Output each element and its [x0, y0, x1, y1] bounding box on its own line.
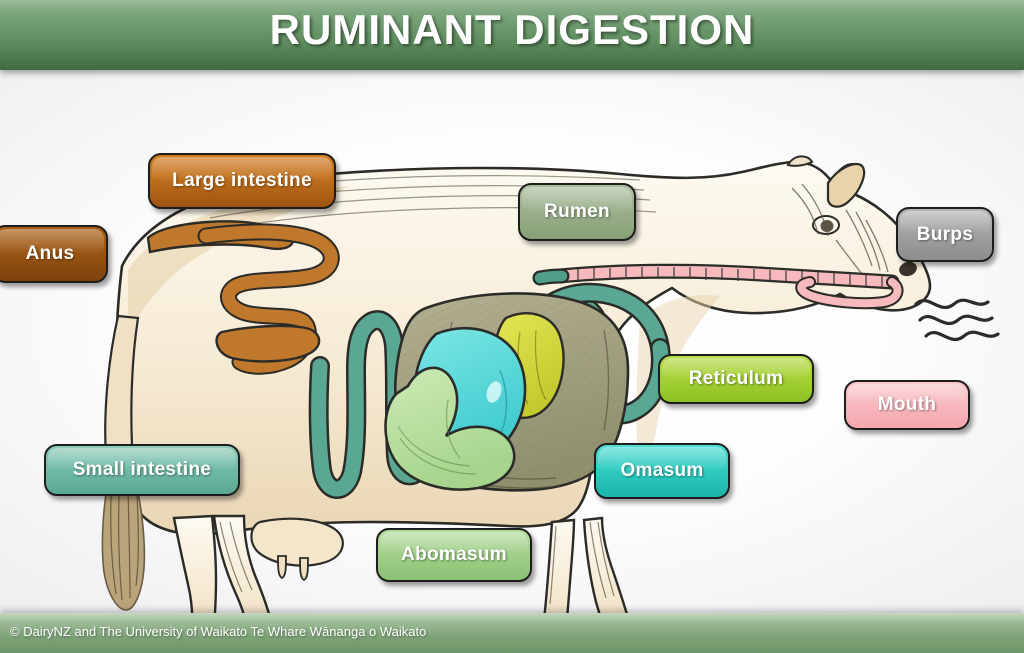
label-rumen[interactable]: Rumen	[518, 183, 636, 241]
cow-udder	[251, 519, 342, 566]
label-rumen-text: Rumen	[544, 201, 610, 223]
label-small-intestine-text: Small intestine	[73, 459, 212, 481]
burp-waves	[916, 300, 998, 339]
label-anus-text: Anus	[26, 243, 75, 265]
diagram-stage: Large intestine Anus Rumen Burps Reticul…	[0, 70, 1024, 653]
label-omasum[interactable]: Omasum	[594, 443, 730, 499]
copyright-credit: © DairyNZ and The University of Waikato …	[10, 624, 426, 639]
label-large-intestine[interactable]: Large intestine	[148, 153, 336, 209]
label-mouth[interactable]: Mouth	[844, 380, 970, 430]
large-intestine-caecum	[217, 326, 320, 361]
label-mouth-text: Mouth	[878, 394, 936, 416]
label-omasum-text: Omasum	[620, 460, 703, 482]
label-large-intestine-text: Large intestine	[172, 170, 312, 192]
label-burps-text: Burps	[917, 224, 973, 246]
poster-footer-bar: © DairyNZ and The University of Waikato …	[0, 613, 1024, 653]
cow-teat-1	[278, 556, 286, 578]
cow-teat-2	[300, 558, 308, 580]
poster-header-bar: RUMINANT DIGESTION	[0, 0, 1024, 70]
label-reticulum[interactable]: Reticulum	[658, 354, 814, 404]
ruminant-digestion-poster: RUMINANT DIGESTION	[0, 0, 1024, 653]
label-abomasum-text: Abomasum	[401, 544, 507, 566]
cow-horn-bud	[788, 156, 812, 165]
label-small-intestine[interactable]: Small intestine	[44, 444, 240, 496]
label-burps[interactable]: Burps	[896, 207, 994, 262]
label-anus[interactable]: Anus	[0, 225, 108, 283]
label-reticulum-text: Reticulum	[689, 368, 784, 390]
label-abomasum[interactable]: Abomasum	[376, 528, 532, 582]
page-title: RUMINANT DIGESTION	[0, 6, 1024, 54]
